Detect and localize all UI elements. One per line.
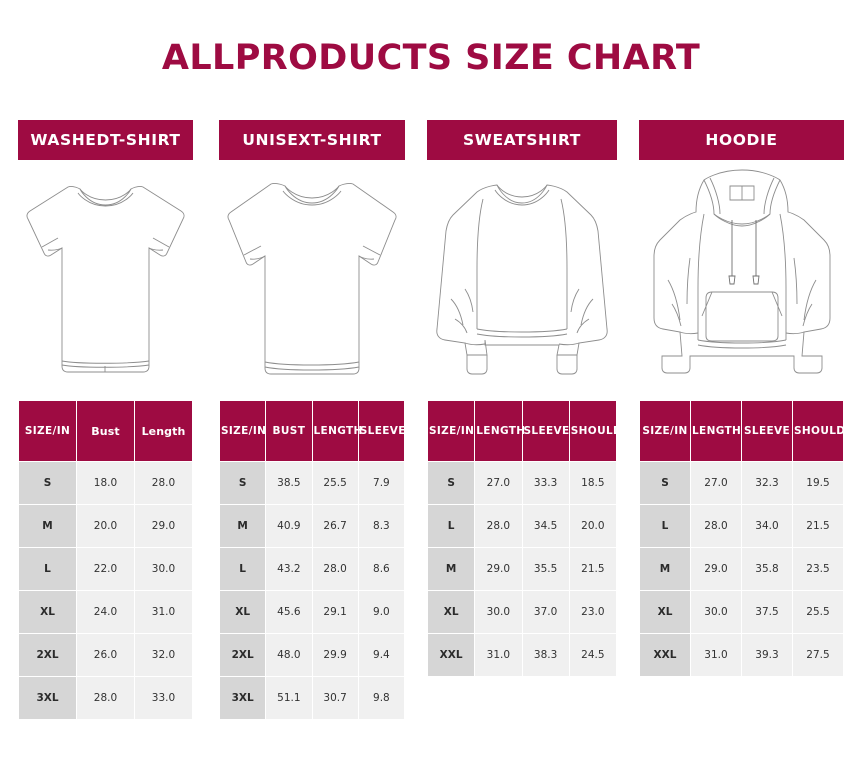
measurement-cell: 27.0 (691, 462, 741, 504)
column-header-size-in: SIZE/IN (220, 401, 265, 461)
column-header-length: LENGTH (313, 401, 358, 461)
measurement-cell: 26.7 (313, 505, 358, 547)
measurement-cell: 7.9 (359, 462, 404, 504)
table-row: 2XL26.032.0 (19, 634, 192, 676)
measurement-cell: 26.0 (77, 634, 134, 676)
size-table-unisex-tshirt: SIZE/INBUSTLENGTHSLEEVE S38.525.57.9M40.… (219, 400, 405, 720)
column-header-length: Length (135, 401, 192, 461)
table-row: S38.525.57.9 (220, 462, 404, 504)
table-row: M40.926.78.3 (220, 505, 404, 547)
size-label-cell: S (428, 462, 474, 504)
measurement-cell: 29.9 (313, 634, 358, 676)
table-row: XL24.031.0 (19, 591, 192, 633)
measurement-cell: 31.0 (475, 634, 521, 676)
table-row: XL30.037.023.0 (428, 591, 616, 633)
measurement-cell: 29.0 (691, 548, 741, 590)
table-row: 3XL51.130.79.8 (220, 677, 404, 719)
size-label-cell: S (220, 462, 265, 504)
table-body: S27.032.319.5L28.034.021.5M29.035.823.5X… (640, 462, 843, 676)
measurement-cell: 21.5 (570, 548, 616, 590)
measurement-cell: 19.5 (793, 462, 843, 504)
size-label-cell: L (640, 505, 690, 547)
measurement-cell: 33.3 (523, 462, 569, 504)
category-header-washed-tshirt: WASHEDT-SHIRT (18, 120, 193, 160)
size-label-cell: 2XL (19, 634, 76, 676)
measurement-cell: 20.0 (570, 505, 616, 547)
measurement-cell: 23.5 (793, 548, 843, 590)
tshirt-icon (18, 171, 193, 381)
table-row: M20.029.0 (19, 505, 192, 547)
measurement-cell: 39.3 (742, 634, 792, 676)
measurement-cell: 9.4 (359, 634, 404, 676)
column-header-bust: BUST (266, 401, 311, 461)
size-label-cell: XL (220, 591, 265, 633)
size-table-hoodie: SIZE/INLENGTHSLEEVESHOULDER S27.032.319.… (639, 400, 844, 677)
column-header-sleeve: SLEEVE (742, 401, 792, 461)
column-header-size-in: SIZE/IN (428, 401, 474, 461)
sweatshirt-icon (427, 169, 617, 384)
table-row: M29.035.823.5 (640, 548, 843, 590)
table-row: L28.034.021.5 (640, 505, 843, 547)
measurement-cell: 24.0 (77, 591, 134, 633)
measurement-cell: 29.0 (135, 505, 192, 547)
size-label-cell: S (640, 462, 690, 504)
measurement-cell: 8.3 (359, 505, 404, 547)
measurement-cell: 45.6 (266, 591, 311, 633)
column-header-length: LENGTH (475, 401, 521, 461)
measurement-cell: 25.5 (793, 591, 843, 633)
table-row: XL30.037.525.5 (640, 591, 843, 633)
measurement-cell: 24.5 (570, 634, 616, 676)
table-row: M29.035.521.5 (428, 548, 616, 590)
measurement-cell: 18.0 (77, 462, 134, 504)
measurement-cell: 31.0 (135, 591, 192, 633)
measurement-cell: 22.0 (77, 548, 134, 590)
column-header-bust: Bust (77, 401, 134, 461)
table-body: S27.033.318.5L28.034.520.0M29.035.521.5X… (428, 462, 616, 676)
table-header-row: SIZE/INBustLength (19, 401, 192, 461)
table-row: S27.032.319.5 (640, 462, 843, 504)
measurement-cell: 38.3 (523, 634, 569, 676)
table-row: S27.033.318.5 (428, 462, 616, 504)
measurement-cell: 30.0 (691, 591, 741, 633)
measurement-cell: 43.2 (266, 548, 311, 590)
size-label-cell: M (428, 548, 474, 590)
measurement-cell: 33.0 (135, 677, 192, 719)
table-row: 3XL28.033.0 (19, 677, 192, 719)
product-columns: WASHEDT-SHIRT SIZE/INBustLength S18.028.… (0, 120, 862, 720)
measurement-cell: 28.0 (475, 505, 521, 547)
measurement-cell: 8.6 (359, 548, 404, 590)
measurement-cell: 29.0 (475, 548, 521, 590)
measurement-cell: 30.0 (475, 591, 521, 633)
measurement-cell: 35.5 (523, 548, 569, 590)
product-column-sweatshirt: SWEATSHIRT S (427, 120, 639, 720)
measurement-cell: 37.5 (742, 591, 792, 633)
size-label-cell: XL (640, 591, 690, 633)
measurement-cell: 32.3 (742, 462, 792, 504)
product-column-washed-tshirt: WASHEDT-SHIRT SIZE/INBustLength S18.028.… (18, 120, 219, 720)
measurement-cell: 28.0 (691, 505, 741, 547)
measurement-cell: 27.0 (475, 462, 521, 504)
hoodie-icon (644, 168, 840, 384)
measurement-cell: 35.8 (742, 548, 792, 590)
measurement-cell: 18.5 (570, 462, 616, 504)
table-row: L28.034.520.0 (428, 505, 616, 547)
column-header-size-in: SIZE/IN (19, 401, 76, 461)
garment-illustration-hoodie (639, 160, 844, 386)
table-header-row: SIZE/INLENGTHSLEEVESHOULDER (428, 401, 616, 461)
measurement-cell: 37.0 (523, 591, 569, 633)
measurement-cell: 40.9 (266, 505, 311, 547)
size-table-sweatshirt: SIZE/INLENGTHSLEEVESHOULDER S27.033.318.… (427, 400, 617, 677)
measurement-cell: 28.0 (313, 548, 358, 590)
measurement-cell: 28.0 (77, 677, 134, 719)
table-row: S18.028.0 (19, 462, 192, 504)
table-row: 2XL48.029.99.4 (220, 634, 404, 676)
column-header-sleeve: SLEEVE (523, 401, 569, 461)
column-header-length: LENGTH (691, 401, 741, 461)
measurement-cell: 30.7 (313, 677, 358, 719)
category-header-unisex-tshirt: UNISEXT-SHIRT (219, 120, 405, 160)
table-row: XXL31.039.327.5 (640, 634, 843, 676)
measurement-cell: 23.0 (570, 591, 616, 633)
size-label-cell: L (220, 548, 265, 590)
measurement-cell: 25.5 (313, 462, 358, 504)
table-row: XL45.629.19.0 (220, 591, 404, 633)
measurement-cell: 34.0 (742, 505, 792, 547)
table-row: L22.030.0 (19, 548, 192, 590)
size-label-cell: XXL (428, 634, 474, 676)
measurement-cell: 27.5 (793, 634, 843, 676)
size-table-washed-tshirt: SIZE/INBustLength S18.028.0M20.029.0L22.… (18, 400, 193, 720)
product-column-unisex-tshirt: UNISEXT-SHIRT SIZE/INBUSTLENGTHSLEEVE S3… (219, 120, 427, 720)
measurement-cell: 9.0 (359, 591, 404, 633)
measurement-cell: 21.5 (793, 505, 843, 547)
size-label-cell: M (220, 505, 265, 547)
table-row: L43.228.08.6 (220, 548, 404, 590)
size-label-cell: XL (428, 591, 474, 633)
column-header-shoulder: SHOULDER (793, 401, 843, 461)
column-header-shoulder: SHOULDER (570, 401, 616, 461)
measurement-cell: 29.1 (313, 591, 358, 633)
measurement-cell: 9.8 (359, 677, 404, 719)
column-header-size-in: SIZE/IN (640, 401, 690, 461)
category-header-sweatshirt: SWEATSHIRT (427, 120, 617, 160)
table-header-row: SIZE/INLENGTHSLEEVESHOULDER (640, 401, 843, 461)
garment-illustration-washed-tshirt (18, 160, 193, 386)
tshirt-icon (219, 170, 405, 382)
measurement-cell: 38.5 (266, 462, 311, 504)
table-body: S38.525.57.9M40.926.78.3L43.228.08.6XL45… (220, 462, 404, 719)
size-label-cell: S (19, 462, 76, 504)
measurement-cell: 34.5 (523, 505, 569, 547)
size-label-cell: M (19, 505, 76, 547)
size-label-cell: 2XL (220, 634, 265, 676)
table-row: XXL31.038.324.5 (428, 634, 616, 676)
garment-illustration-unisex-tshirt (219, 160, 405, 386)
product-column-hoodie: HOODIE (639, 120, 844, 720)
measurement-cell: 32.0 (135, 634, 192, 676)
size-label-cell: 3XL (19, 677, 76, 719)
table-body: S18.028.0M20.029.0L22.030.0XL24.031.02XL… (19, 462, 192, 719)
size-label-cell: XL (19, 591, 76, 633)
measurement-cell: 28.0 (135, 462, 192, 504)
measurement-cell: 31.0 (691, 634, 741, 676)
size-label-cell: L (19, 548, 76, 590)
garment-illustration-sweatshirt (427, 160, 617, 386)
category-header-hoodie: HOODIE (639, 120, 844, 160)
measurement-cell: 30.0 (135, 548, 192, 590)
size-label-cell: M (640, 548, 690, 590)
column-header-sleeve: SLEEVE (359, 401, 404, 461)
size-label-cell: XXL (640, 634, 690, 676)
size-label-cell: 3XL (220, 677, 265, 719)
measurement-cell: 51.1 (266, 677, 311, 719)
measurement-cell: 20.0 (77, 505, 134, 547)
page-title: ALLPRODUCTS SIZE CHART (0, 0, 862, 78)
size-label-cell: L (428, 505, 474, 547)
measurement-cell: 48.0 (266, 634, 311, 676)
table-header-row: SIZE/INBUSTLENGTHSLEEVE (220, 401, 404, 461)
